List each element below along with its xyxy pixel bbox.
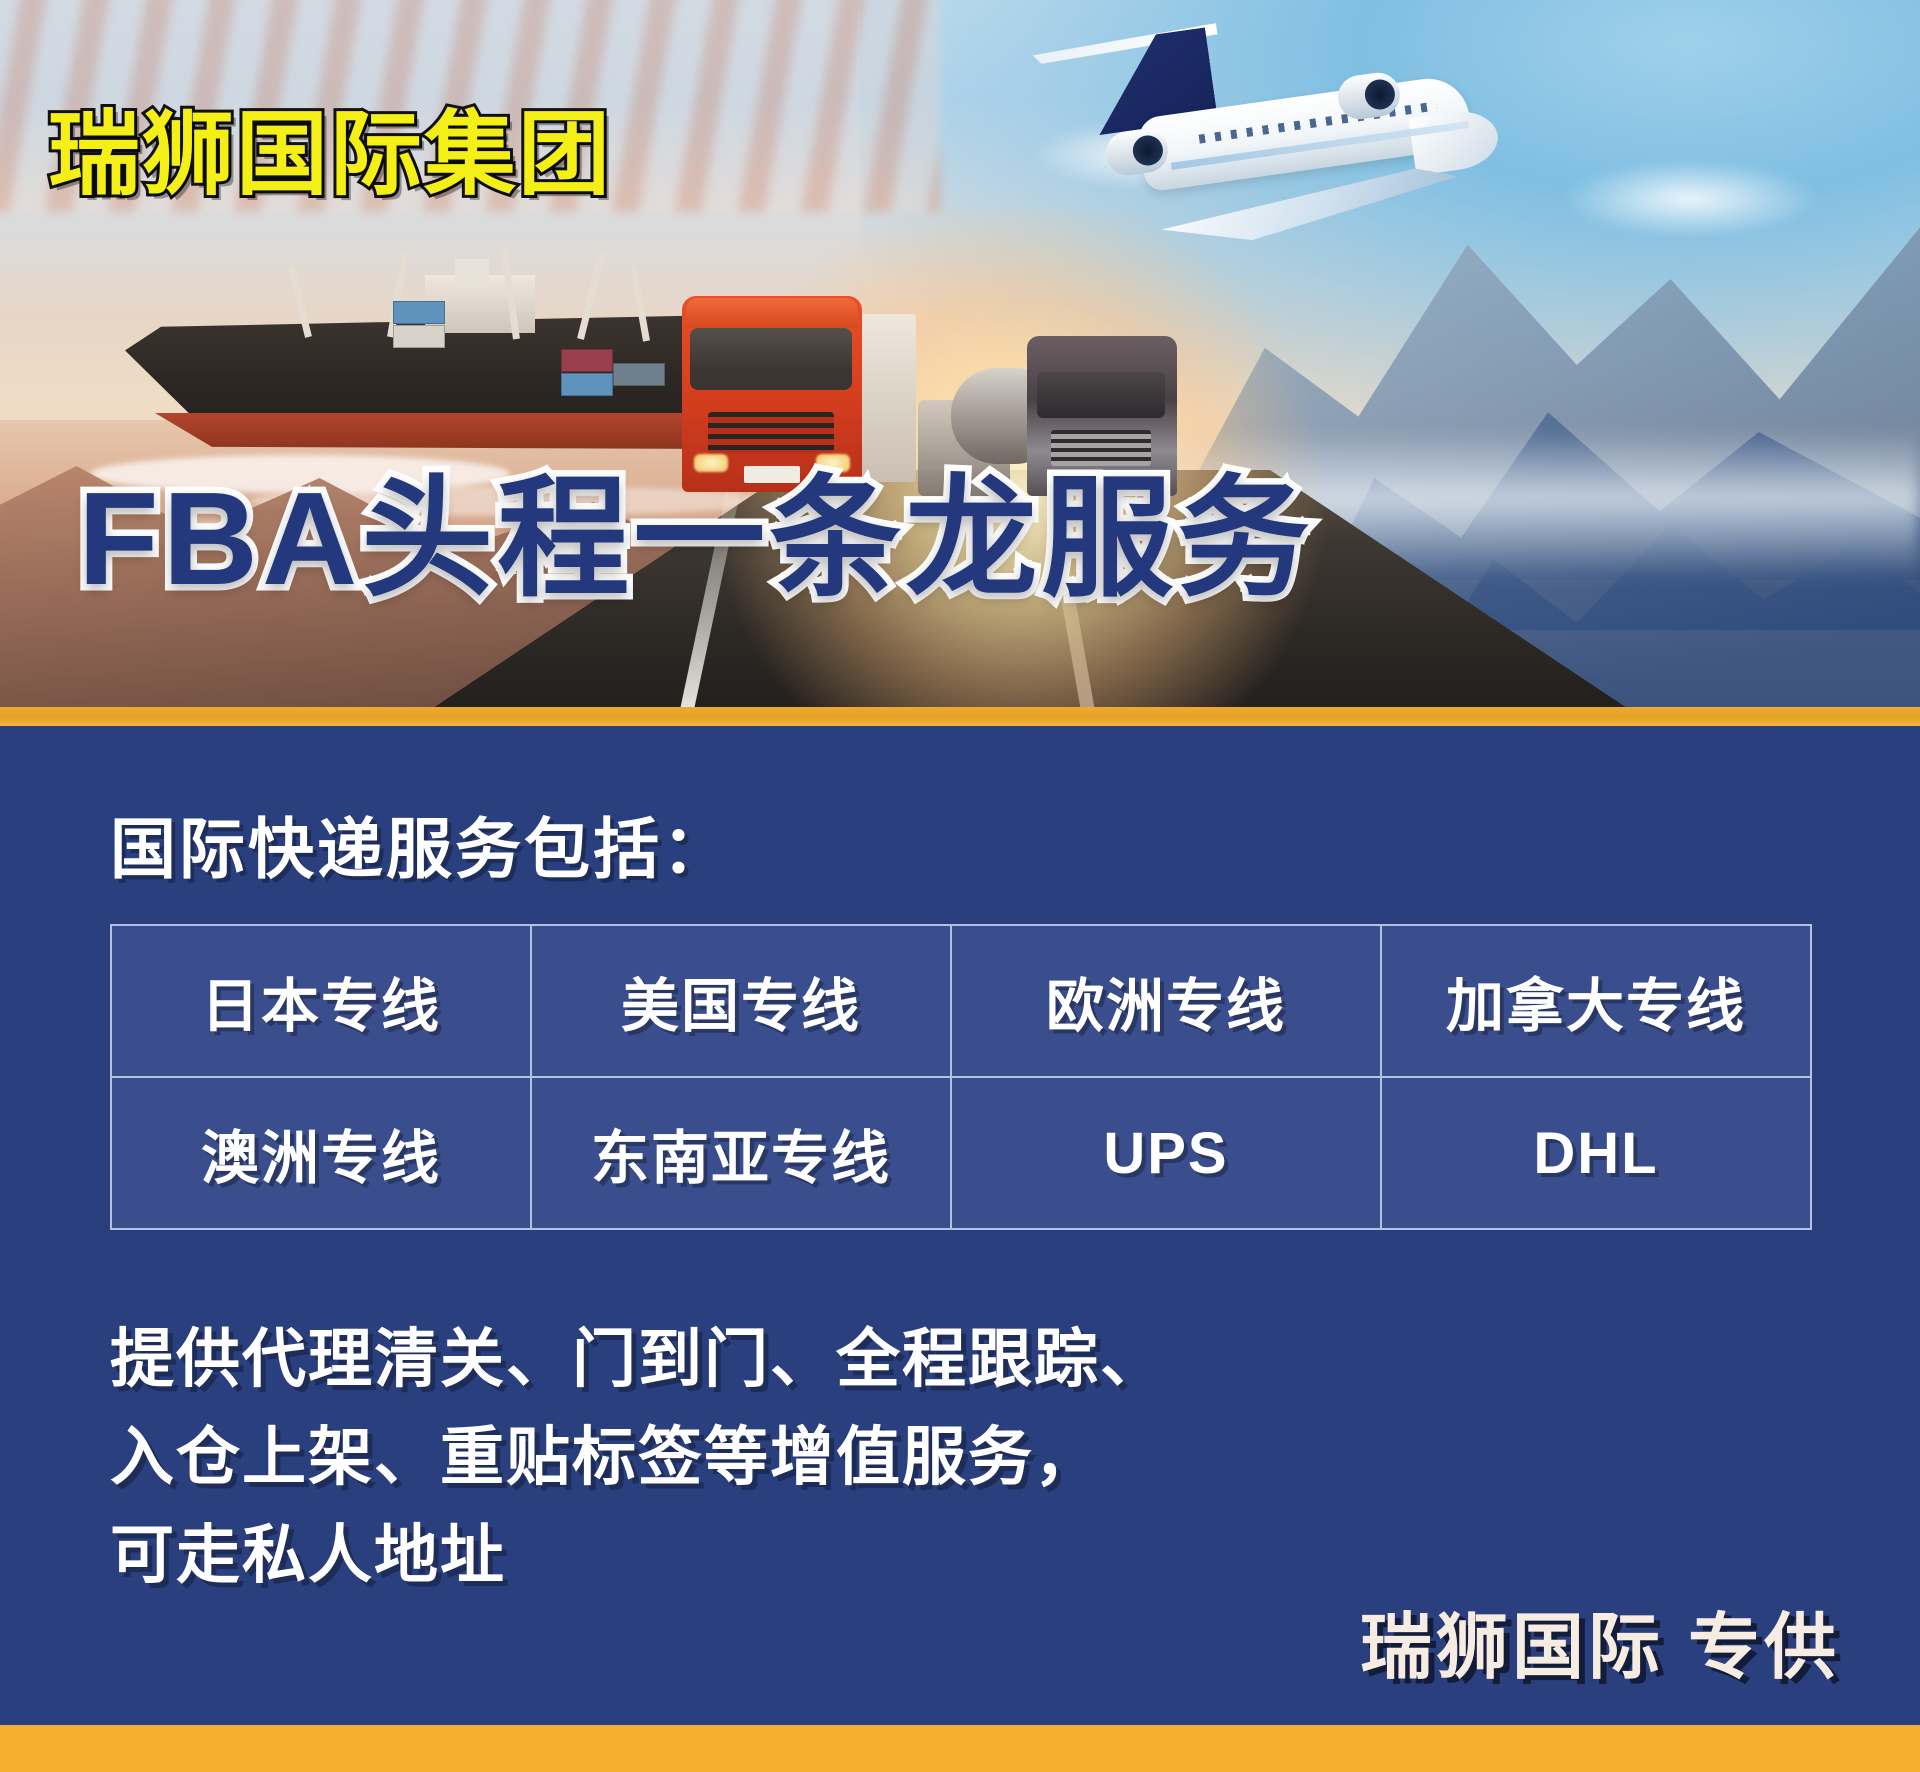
main-title: FBA头程一条龙服务 xyxy=(78,432,1313,623)
paragraph-line-3: 可走私人地址 xyxy=(110,1506,1166,1604)
table-cell-usa-line: 美国专线 xyxy=(531,925,951,1077)
top-accent-bar xyxy=(0,707,1920,726)
paragraph-line-2: 入仓上架、重贴标签等增值服务， xyxy=(110,1408,1166,1506)
bottom-accent-bar xyxy=(0,1725,1920,1772)
table-cell-sea-line: 东南亚专线 xyxy=(531,1077,951,1229)
info-panel: 国际快递服务包括： 日本专线 美国专线 欧洲专线 加拿大专线 澳洲专线 东南亚专… xyxy=(0,726,1920,1725)
service-table: 日本专线 美国专线 欧洲专线 加拿大专线 澳洲专线 东南亚专线 UPS DHL xyxy=(110,924,1812,1230)
table-row: 澳洲专线 东南亚专线 UPS DHL xyxy=(111,1077,1811,1229)
shipping-container xyxy=(561,349,613,372)
table-cell-dhl: DHL xyxy=(1381,1077,1811,1229)
truck-windshield xyxy=(690,328,852,390)
services-paragraph: 提供代理清关、门到门、全程跟踪、 入仓上架、重贴标签等增值服务， 可走私人地址 xyxy=(110,1310,1166,1604)
promotional-poster: 瑞狮国际集团 FBA头程一条龙服务 国际快递服务包括： 日本专线 美国专线 欧洲… xyxy=(0,0,1920,1772)
jet-airplane xyxy=(1020,26,1500,256)
shipping-container xyxy=(393,325,445,348)
truck-windshield xyxy=(1037,372,1165,418)
signature-text: 瑞狮国际 专供 xyxy=(1360,1588,1840,1693)
table-cell-ups: UPS xyxy=(951,1077,1381,1229)
ship-funnel xyxy=(455,259,489,289)
plane-engine-intake xyxy=(1363,78,1397,112)
table-cell-australia-line: 澳洲专线 xyxy=(111,1077,531,1229)
shipping-container xyxy=(393,301,445,324)
company-logo-text: 瑞狮国际集团 xyxy=(48,80,612,213)
table-cell-canada-line: 加拿大专线 xyxy=(1381,925,1811,1077)
shipping-container xyxy=(561,373,613,396)
hero-photo-collage: 瑞狮国际集团 FBA头程一条龙服务 xyxy=(0,0,1920,707)
table-cell-europe-line: 欧洲专线 xyxy=(951,925,1381,1077)
table-cell-japan-line: 日本专线 xyxy=(111,925,531,1077)
paragraph-line-1: 提供代理清关、门到门、全程跟踪、 xyxy=(110,1310,1166,1408)
table-row: 日本专线 美国专线 欧洲专线 加拿大专线 xyxy=(111,925,1811,1077)
plane-nose xyxy=(1408,106,1501,175)
panel-heading: 国际快递服务包括： xyxy=(110,796,731,892)
truck-sun-visor xyxy=(686,298,858,328)
plane-engine-intake xyxy=(1131,134,1165,168)
shipping-container xyxy=(613,363,665,386)
cloud-wisp xyxy=(1560,160,1820,238)
